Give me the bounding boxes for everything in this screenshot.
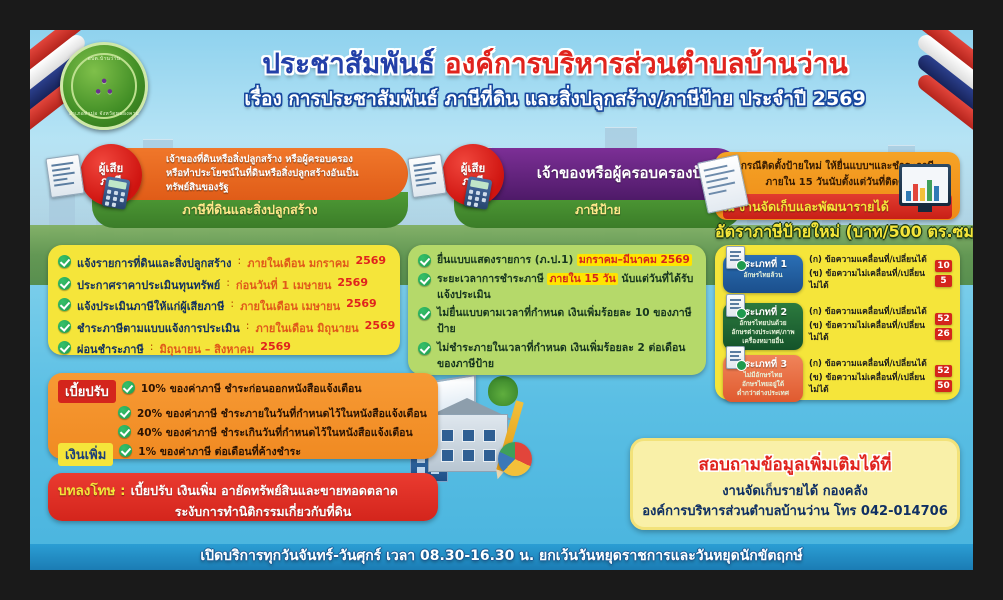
schedule-period: มิถุนายน – สิงหาคม	[159, 340, 254, 358]
schedule-label: แจ้งรายการที่ดินและสิ่งปลูกสร้าง	[77, 254, 231, 272]
rate-type-sub-2: อักษรไทยอยู่ใต้	[726, 380, 800, 389]
rate-value-a: 52	[935, 365, 952, 377]
rule-pre: ระยะเวลาการชำระภาษี	[437, 273, 547, 285]
page-subtitle: เรื่อง การประชาสัมพันธ์ ภาษีที่ดิน และสิ…	[155, 84, 955, 114]
rule-highlight: มกราคม–มีนาคม 2569	[577, 254, 692, 266]
schedule-row: ผ่อนชำระภาษี : มิถุนายน – สิงหาคม 2569	[58, 340, 390, 358]
rate-type-sub-3: เครื่องหมายอื่น	[726, 337, 800, 346]
schedule-colon: :	[246, 319, 250, 332]
rate-desc-b: (ข) ข้อความไม่เคลื่อนที่/เปลี่ยนไม่ได้	[809, 321, 929, 345]
penalty-card: เบี้ยปรับ 10% ของค่าภาษี ชำระก่อนออกหนัง…	[48, 373, 438, 459]
schedule-year: 2569	[365, 319, 396, 332]
rate-desc-a: (ก) ข้อความแคลื่อนที่/เปลี่ยนได้	[809, 359, 929, 371]
penalty-surcharge-tag: เงินเพิ่ม	[58, 443, 113, 466]
schedule-year: 2569	[337, 276, 368, 289]
title-part-2: องค์การบริหารส่วนตำบลบ้านว่าน	[445, 47, 848, 80]
clipboard-icon	[726, 346, 745, 369]
schedule-period: ภายในเดือน มิถุนายน	[255, 319, 358, 337]
organization-emblem: อบต.บ้านว่าน ⛬ อำเภอท่าบ่อ จังหวัดหนองคา…	[60, 42, 148, 130]
rate-table-row: ประเภทที่ 1 อักษรไทยล้วน (ก) ข้อความแคลื…	[723, 255, 952, 293]
emblem-bottom-text: อำเภอท่าบ่อ จังหวัดหนองคาย	[60, 110, 148, 118]
rule-text: ยื่นแบบแสดงรายการ (ภ.ป.1) มกราคม–มีนาคม …	[437, 253, 692, 269]
check-icon	[118, 425, 131, 438]
schedule-year: 2569	[355, 254, 386, 267]
land-desc-line-2: หรือทำประโยชน์ในที่ดินหรือสิ่งปลูกสร้างอ…	[166, 167, 359, 181]
sign-desc: เจ้าของหรือผู้ครอบครองป้าย	[537, 163, 719, 185]
land-tax-category-label: ภาษีที่ดินและสิ่งปลูกสร้าง	[182, 200, 317, 220]
check-icon	[122, 381, 135, 394]
rule-text: ไม่ยื่นแบบตามเวลาที่กำหนด เงินเพิ่มร้อยล…	[437, 306, 696, 338]
check-icon	[118, 406, 131, 419]
temple-icon: ⛬	[60, 70, 148, 101]
rate-table-title: อัตราภาษีป้ายใหม่ (บาท/500 ตร.ซม.)	[715, 220, 960, 245]
contact-title: สอบถามข้อมูลเพิ่มเติมได้ที่	[641, 451, 949, 478]
poster-canvas: อบต.บ้านว่าน ⛬ อำเภอท่าบ่อ จังหวัดหนองคา…	[30, 30, 973, 570]
rate-value-cell: 10 5	[935, 255, 952, 293]
sign-rate-table-card: ประเภทที่ 1 อักษรไทยล้วน (ก) ข้อความแคลื…	[715, 245, 960, 400]
rate-type-sub-1: อักษรไทยล้วน	[726, 271, 800, 280]
rate-type-sub-1: อักษรไทยปนด้วย	[726, 319, 800, 328]
rate-desc-a: (ก) ข้อความแคลื่อนที่/เปลี่ยนได้	[809, 307, 929, 319]
clipboard-icon	[726, 294, 745, 317]
land-desc-line-1: เจ้าของที่ดินหรือสิ่งปลูกสร้าง หรือผู้คร…	[166, 153, 359, 167]
rate-desc-a: (ก) ข้อความแคลื่อนที่/เปลี่ยนได้	[809, 255, 929, 267]
clipboard-icon	[726, 246, 745, 269]
rate-value-cell: 52 26	[935, 303, 952, 350]
illustration-cluster	[410, 380, 660, 520]
penalty-item: 40% ของค่าภาษี ชำระเกินวันที่กำหนดไว้ในห…	[137, 424, 413, 441]
land-taxpayer-panel: ภาษีที่ดินและสิ่งปลูกสร้าง เจ้าของที่ดิน…	[58, 148, 408, 234]
check-icon	[418, 273, 431, 286]
schedule-period: ก่อนวันที่ 1 เมษายน	[236, 276, 331, 294]
emblem-top-text: อบต.บ้านว่าน	[60, 55, 148, 63]
sign-tax-rules-card: ยื่นแบบแสดงรายการ (ภ.ป.1) มกราคม–มีนาคม …	[408, 245, 706, 375]
rule-text: ไม่ชำระภายในเวลาที่กำหนด เงินเพิ่มร้อยละ…	[437, 341, 696, 373]
rule-pre: ไม่ชำระภายในเวลาที่กำหนด เงินเพิ่มร้อยละ…	[437, 342, 685, 370]
sign-tax-category-label: ภาษีป้าย	[575, 200, 621, 220]
rate-value-b: 50	[935, 380, 952, 392]
check-icon	[418, 342, 431, 355]
penalty-item: 10% ของค่าภาษี ชำระก่อนออกหนังสือแจ้งเตื…	[141, 380, 362, 397]
monitor-chart-icon	[899, 164, 951, 206]
calculator-icon	[102, 176, 131, 210]
title-part-1: ประชาสัมพันธ์	[262, 47, 435, 80]
sign-taxpayer-panel: ภาษีป้าย เจ้าของหรือผู้ครอบครองป้าย ผู้เ…	[420, 148, 740, 234]
rate-value-b: 5	[935, 275, 952, 287]
rate-desc-cell: (ก) ข้อความแคลื่อนที่/เปลี่ยนได้ (ข) ข้อ…	[809, 355, 929, 402]
check-icon	[418, 254, 431, 267]
schedule-colon: :	[237, 254, 241, 267]
land-tax-schedule-card: แจ้งรายการที่ดินและสิ่งปลูกสร้าง : ภายใน…	[48, 245, 400, 355]
rate-type-cell: ประเภทที่ 1 อักษรไทยล้วน	[723, 255, 803, 293]
schedule-label: ชำระภาษีตามแบบแจ้งการประเมิน	[77, 319, 240, 337]
schedule-row: ชำระภาษีตามแบบแจ้งการประเมิน : ภายในเดือ…	[58, 319, 390, 337]
rule-row: ไม่ชำระภายในเวลาที่กำหนด เงินเพิ่มร้อยละ…	[418, 341, 696, 373]
pie-chart-icon	[498, 442, 532, 476]
schedule-label: ประกาศราคาประเมินทุนทรัพย์	[77, 276, 220, 294]
penalty-item: 1% ของค่าภาษี ต่อเดือนที่ค้างชำระ	[138, 443, 301, 460]
schedule-label: แจ้งประเมินภาษีให้แก่ผู้เสียภาษี	[77, 297, 224, 315]
schedule-label: ผ่อนชำระภาษี	[77, 340, 144, 358]
rate-table-row: ประเภทที่ 2 อักษรไทยปนด้วย อักษรต่างประเ…	[723, 303, 952, 350]
rule-text: ระยะเวลาการชำระภาษี ภายใน 15 วัน นับแต่ว…	[437, 272, 696, 304]
contact-card: สอบถามข้อมูลเพิ่มเติมได้ที่ งานจัดเก็บรา…	[630, 438, 960, 530]
rate-type-sub-1: ไม่มีอักษรไทย	[726, 371, 800, 380]
rate-desc-cell: (ก) ข้อความแคลื่อนที่/เปลี่ยนได้ (ข) ข้อ…	[809, 255, 929, 293]
punishment-line-1: เบี้ยปรับ เงินเพิ่ม อายัดทรัพย์สินและขาย…	[131, 483, 398, 498]
punishment-tag: บทลงโทษ :	[58, 483, 125, 499]
penalty-fine-tag: เบี้ยปรับ	[58, 380, 116, 403]
schedule-colon: :	[230, 297, 234, 310]
contact-line-1: งานจัดเก็บรายได้ กองคลัง	[641, 483, 949, 502]
rule-row: ไม่ยื่นแบบตามเวลาที่กำหนด เงินเพิ่มร้อยล…	[418, 306, 696, 338]
check-icon	[58, 298, 71, 311]
rate-type-sub-2: อักษรต่างประเทศ/ภาพ	[726, 328, 800, 337]
check-icon	[119, 444, 132, 457]
rate-value-a: 10	[935, 260, 952, 272]
document-icon	[45, 154, 84, 198]
schedule-year: 2569	[260, 340, 291, 353]
rate-table-row: ประเภทที่ 3 ไม่มีอักษรไทย อักษรไทยอยู่ใต…	[723, 355, 952, 402]
schedule-period: ภายในเดือน มกราคม	[247, 254, 349, 272]
rate-type-cell: ประเภทที่ 2 อักษรไทยปนด้วย อักษรต่างประเ…	[723, 303, 803, 350]
rate-desc-b: (ข) ข้อความไม่เคลื่อนที่/เปลี่ยนไม่ได้	[809, 269, 929, 293]
check-icon	[58, 277, 71, 290]
schedule-row: แจ้งประเมินภาษีให้แก่ผู้เสียภาษี : ภายใน…	[58, 297, 390, 315]
schedule-colon: :	[150, 340, 154, 353]
header-block: ประชาสัมพันธ์ องค์การบริหารส่วนตำบลบ้านว…	[155, 48, 955, 114]
schedule-period: ภายในเดือน เมษายน	[240, 297, 340, 315]
check-icon	[418, 307, 431, 320]
rule-row: ยื่นแบบแสดงรายการ (ภ.ป.1) มกราคม–มีนาคม …	[418, 253, 696, 269]
rate-value-b: 26	[935, 328, 952, 340]
check-icon	[58, 341, 71, 354]
schedule-year: 2569	[346, 297, 377, 310]
page-title: ประชาสัมพันธ์ องค์การบริหารส่วนตำบลบ้านว…	[155, 48, 955, 80]
rate-value-a: 52	[935, 313, 952, 325]
schedule-row: ประกาศราคาประเมินทุนทรัพย์ : ก่อนวันที่ …	[58, 276, 390, 294]
check-icon	[58, 255, 71, 268]
rule-highlight: ภายใน 15 วัน	[547, 273, 617, 285]
rule-row: ระยะเวลาการชำระภาษี ภายใน 15 วัน นับแต่ว…	[418, 272, 696, 304]
footer-text: เปิดบริการทุกวันจันทร์-วันศุกร์ เวลา 08.…	[30, 545, 973, 567]
rate-type-sub-3: ต่ำกว่าต่างประเทศ	[726, 389, 800, 398]
plant-icon	[488, 376, 518, 406]
contact-line-2: องค์การบริหารส่วนตำบลบ้านว่าน โทร 042-01…	[641, 503, 949, 522]
rate-desc-cell: (ก) ข้อความแคลื่อนที่/เปลี่ยนได้ (ข) ข้อ…	[809, 303, 929, 350]
schedule-row: แจ้งรายการที่ดินและสิ่งปลูกสร้าง : ภายใน…	[58, 254, 390, 272]
rule-pre: ยื่นแบบแสดงรายการ (ภ.ป.1)	[437, 254, 577, 266]
penalty-item: 20% ของค่าภาษี ชำระภายในวันที่กำหนดไว้ใน…	[137, 405, 427, 422]
house-icon	[428, 414, 508, 472]
check-icon	[58, 320, 71, 333]
punishment-line-2: ระงับการทำนิติกรรมเกี่ยวกับที่ดิน	[175, 504, 352, 519]
calculator-icon	[464, 176, 493, 210]
document-icon	[407, 154, 446, 198]
rate-desc-b: (ข) ข้อความไม่เคลื่อนที่/เปลี่ยนไม่ได้	[809, 373, 929, 397]
punishment-card: บทลงโทษ : เบี้ยปรับ เงินเพิ่ม อายัดทรัพย…	[48, 473, 438, 521]
rate-type-cell: ประเภทที่ 3 ไม่มีอักษรไทย อักษรไทยอยู่ใต…	[723, 355, 803, 402]
schedule-colon: :	[226, 276, 230, 289]
rule-pre: ไม่ยื่นแบบตามเวลาที่กำหนด เงินเพิ่มร้อยล…	[437, 307, 692, 335]
land-desc-line-3: ทรัพย์สินของรัฐ	[166, 181, 359, 195]
rate-value-cell: 52 50	[935, 355, 952, 402]
